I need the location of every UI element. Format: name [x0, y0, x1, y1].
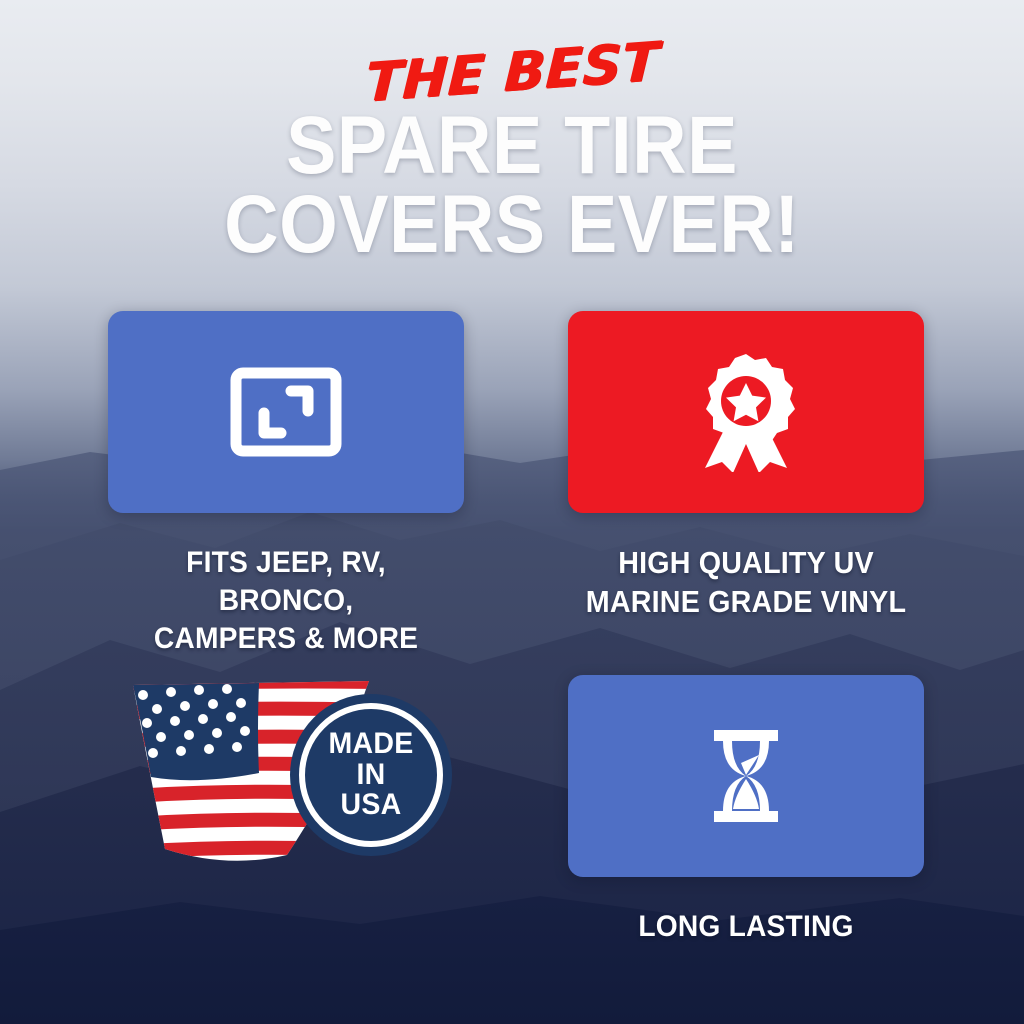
feature-caption-line-2: MARINE GRADE VINYL: [579, 583, 914, 622]
headline-line-2: COVERS EVER!: [41, 186, 983, 263]
made-in-usa-group: MADE IN USA: [108, 675, 464, 877]
feature-caption: FITS JEEP, RV, BRONCO, CAMPERS & MORE: [119, 544, 454, 658]
made-in-usa-badge: MADE IN USA: [289, 693, 453, 857]
feature-tile: [568, 311, 924, 513]
poster: THE BEST SPARE TIRE COVERS EVER! FITS JE…: [0, 0, 1024, 1024]
headline-line-1: SPARE TIRE: [41, 107, 983, 184]
feature-item-high-quality-vinyl: HIGH QUALITY UV MARINE GRADE VINYL: [568, 311, 924, 621]
feature-item-fits-vehicles: FITS JEEP, RV, BRONCO, CAMPERS & MORE: [108, 311, 464, 658]
award-ribbon-icon: [692, 352, 800, 472]
feature-caption-line-1: FITS JEEP, RV, BRONCO,: [119, 544, 454, 620]
feature-tile: [108, 311, 464, 513]
feature-tile: [568, 675, 924, 877]
badge-text: MADE IN USA: [293, 693, 449, 857]
feature-caption: LONG LASTING: [579, 908, 914, 946]
feature-caption-line-1: HIGH QUALITY UV: [579, 544, 914, 583]
feature-item-made-in-usa: MADE IN USA: [108, 675, 464, 877]
feature-caption-line-1: LONG LASTING: [579, 908, 914, 946]
feature-item-long-lasting: LONG LASTING: [568, 675, 924, 946]
badge-line-3: USA: [340, 790, 401, 821]
badge-line-2: IN: [356, 760, 385, 791]
feature-caption: HIGH QUALITY UV MARINE GRADE VINYL: [579, 544, 914, 621]
resize-frame-icon: [230, 367, 342, 457]
feature-caption-line-2: CAMPERS & MORE: [119, 620, 454, 658]
hourglass-icon: [713, 730, 779, 822]
badge-line-1: MADE: [328, 729, 413, 760]
